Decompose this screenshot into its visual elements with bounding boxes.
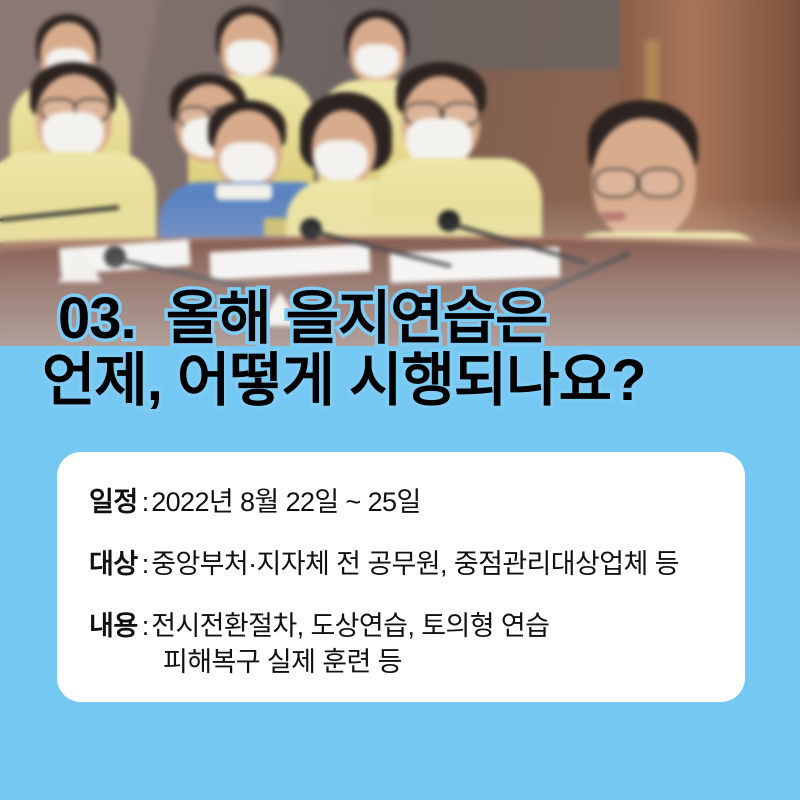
info-separator: : xyxy=(138,549,152,579)
wall-panel-grey xyxy=(380,0,630,70)
info-card: 일정:2022년 8월 22일 ~ 25일 대상:중앙부처·지자체 전 공무원,… xyxy=(57,452,745,702)
headline: 03. 올해 을지연습은 언제, 어떻게 시행되나요? xyxy=(0,288,800,412)
info-value-target: 중앙부처·지자체 전 공무원, 중점관리대상업체 등 xyxy=(151,549,679,579)
info-card-graphic: 03. 올해 을지연습은 언제, 어떻게 시행되나요? 일정:2022년 8월 … xyxy=(0,0,800,800)
info-row-target: 대상:중앙부처·지자체 전 공무원, 중점관리대상업체 등 xyxy=(89,546,745,582)
headline-line-1: 03. 올해 을지연습은 xyxy=(0,288,800,350)
info-label-target: 대상 xyxy=(89,549,138,579)
info-value-content-line2: 피해복구 실제 훈련 등 xyxy=(89,644,745,680)
info-row-schedule: 일정:2022년 8월 22일 ~ 25일 xyxy=(89,484,745,520)
info-row-content: 내용:전시전환절차, 도상연습, 토의형 연습 피해복구 실제 훈련 등 xyxy=(89,608,745,680)
info-separator: : xyxy=(138,487,152,517)
info-label-content: 내용 xyxy=(89,611,138,641)
document-paper xyxy=(390,247,561,283)
name-placard xyxy=(58,248,102,282)
info-value-content: 전시전환절차, 도상연습, 토의형 연습 xyxy=(151,611,549,641)
info-separator: : xyxy=(138,611,152,641)
headline-line-2: 언제, 어떻게 시행되나요? xyxy=(0,350,800,412)
info-label-schedule: 일정 xyxy=(89,487,138,517)
info-value-schedule: 2022년 8월 22일 ~ 25일 xyxy=(151,487,420,517)
